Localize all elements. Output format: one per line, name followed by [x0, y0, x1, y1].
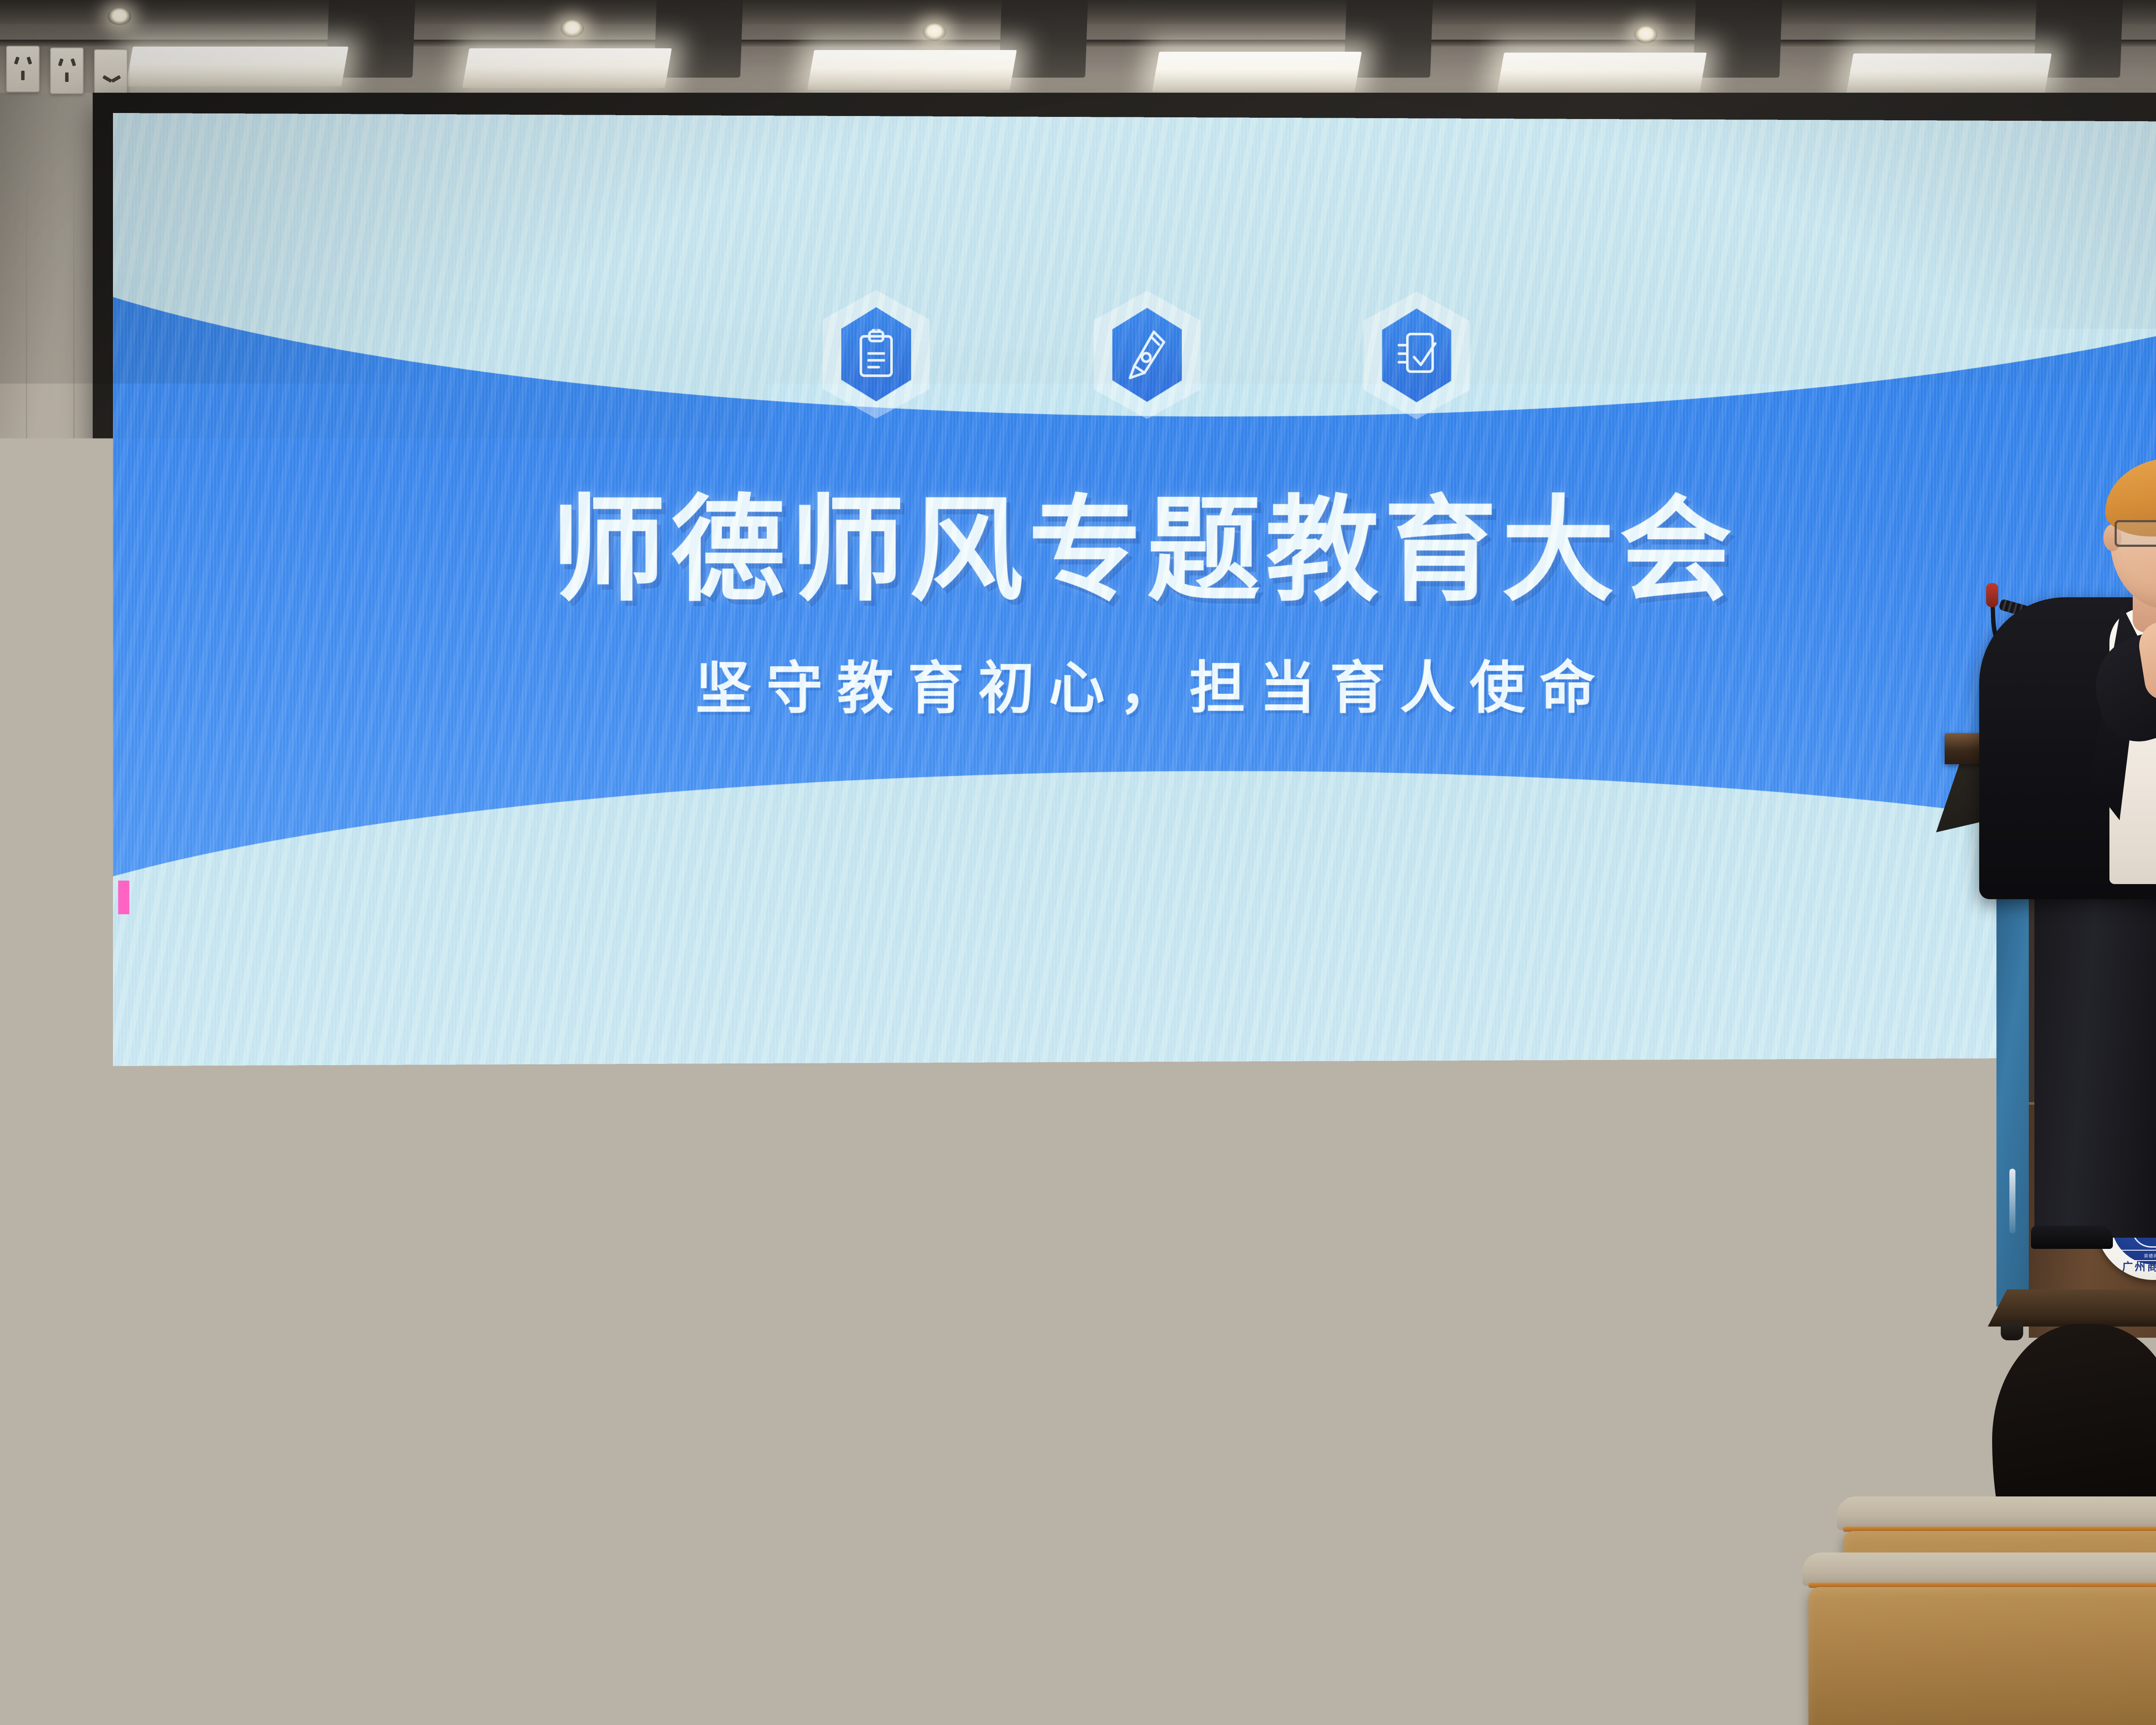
ceiling-downlight	[108, 8, 131, 25]
dead-pixel-artifact	[118, 881, 129, 914]
ceiling-light	[1846, 53, 2052, 93]
ceiling-light	[126, 47, 348, 86]
crest-ring-bottom-text: 广州商学院	[2096, 1258, 2156, 1274]
podium-caster	[2001, 1322, 2023, 1340]
ceiling-downlight	[923, 23, 946, 41]
ceiling	[0, 0, 2156, 93]
ceiling-light	[462, 48, 672, 88]
ceiling-light	[1497, 53, 1707, 92]
ceiling-downlight	[1634, 26, 1658, 43]
audience-ear	[1646, 1251, 1671, 1288]
power-outlet[interactable]	[6, 46, 40, 92]
eyeglasses-icon	[2111, 520, 2156, 547]
wall-seam	[73, 129, 75, 1130]
ceiling-downlight	[561, 20, 584, 37]
lecture-hall-photo: 师德师风专题教育大会 坚守教育初心，担当育人使命 GUANGZHOU COLLE…	[0, 0, 2156, 1725]
wainscot-panel	[65, 1115, 2156, 1200]
presentation-screen[interactable]: 师德师风专题教育大会 坚守教育初心，担当育人使命	[113, 113, 2156, 1066]
audience-shoulders	[1501, 1479, 1699, 1725]
seat-armrest[interactable]	[530, 1639, 625, 1725]
audience-seat[interactable]	[0, 1535, 319, 1725]
power-outlet[interactable]	[50, 47, 84, 94]
audience-seat[interactable]	[1802, 1552, 2156, 1725]
speaker-presenter	[1966, 427, 2156, 1246]
screen-under-trim	[93, 1087, 2156, 1117]
audience-ear	[137, 1268, 168, 1313]
ceiling-light	[1152, 52, 1362, 91]
floor-power-box[interactable]	[1015, 1371, 1112, 1387]
power-outlet[interactable]	[94, 49, 128, 96]
ceiling-light	[807, 50, 1017, 90]
wall-seam	[26, 129, 27, 1130]
